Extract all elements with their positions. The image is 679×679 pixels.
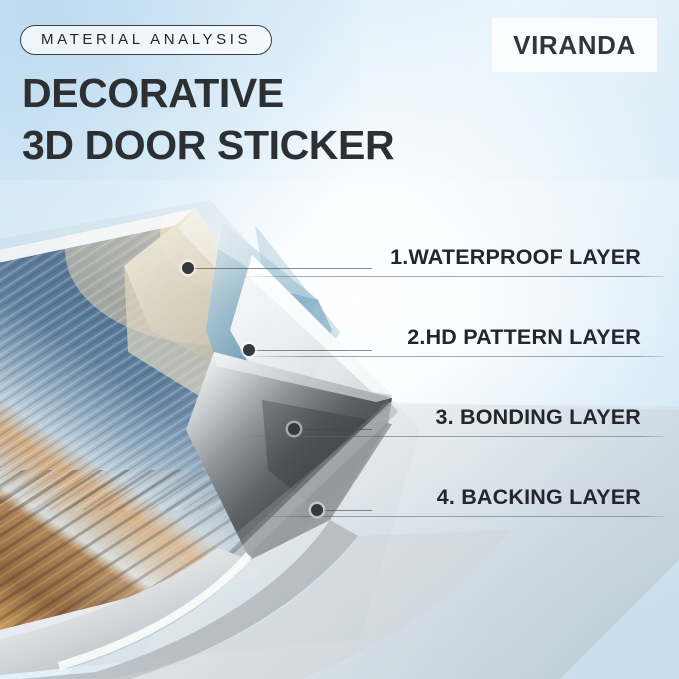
callout-rule-4 (244, 516, 664, 517)
leader-line-2 (249, 350, 372, 351)
callout-label-3: 3. BONDING LAYER (436, 405, 642, 429)
callout-rule-2 (244, 356, 664, 357)
leader-line-4 (317, 510, 372, 511)
layer-marker-dot-1 (182, 262, 194, 274)
infographic-poster: MATERIAL ANALYSIS DECORATIVE 3D DOOR STI… (0, 0, 679, 679)
callout-label-4: 4. BACKING LAYER (437, 485, 641, 509)
callout-rule-1 (244, 276, 664, 277)
brand-name: VIRANDA (513, 30, 636, 61)
material-analysis-badge: MATERIAL ANALYSIS (20, 25, 272, 55)
leader-line-3 (294, 429, 372, 430)
callout-layer-1: 1.WATERPROOF LAYER (244, 245, 664, 270)
layer-marker-dot-2 (243, 344, 255, 356)
global-sheen (0, 180, 679, 300)
callout-layer-2: 2.HD PATTERN LAYER (244, 325, 664, 350)
callout-layer-3: 3. BONDING LAYER (244, 405, 664, 430)
leader-line-1 (188, 268, 372, 269)
layer-marker-dot-4 (311, 504, 323, 516)
layer-marker-dot-3 (288, 423, 300, 435)
brand-logo-box: VIRANDA (492, 18, 657, 72)
callout-layer-4: 4. BACKING LAYER (244, 485, 664, 510)
callout-label-1: 1.WATERPROOF LAYER (390, 245, 641, 269)
callout-label-2: 2.HD PATTERN LAYER (407, 325, 641, 349)
callout-rule-3 (244, 436, 664, 437)
page-title: DECORATIVE 3D DOOR STICKER (22, 68, 492, 171)
